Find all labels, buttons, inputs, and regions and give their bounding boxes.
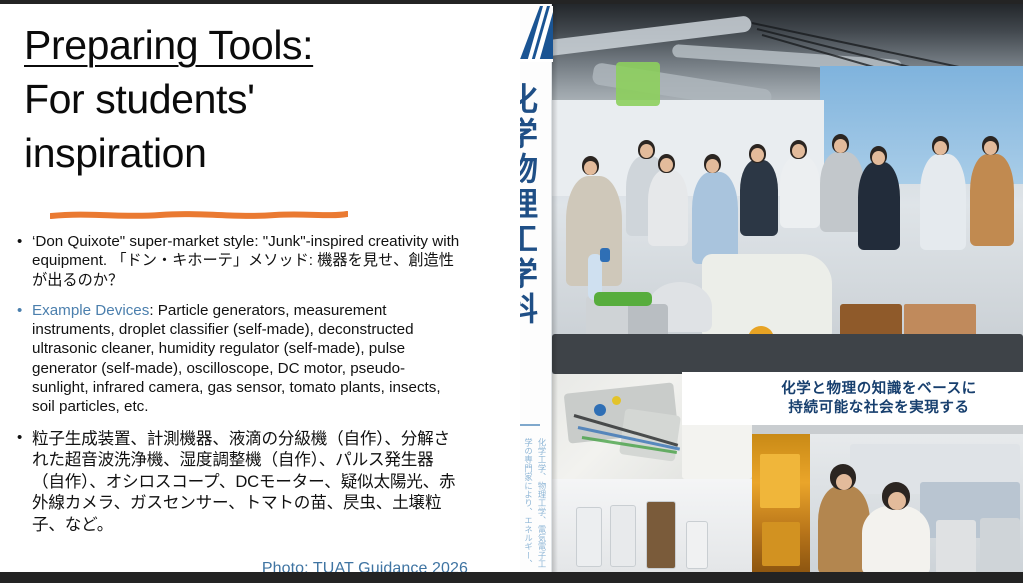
person bbox=[862, 506, 930, 573]
bullet-text: ‘Don Quixote" super-market style: "Junk"… bbox=[32, 233, 459, 289]
person-face bbox=[660, 158, 673, 172]
brochure-image: 化学と物理の知識をベースに 持続可能な社会を実現する 化学物理工学科 APPLI… bbox=[470, 4, 1023, 573]
list-item: • ‘Don Quixote" super-market style: "Jun… bbox=[10, 232, 460, 290]
spine-shadow bbox=[552, 4, 558, 573]
list-item: • 粒子生成装置、計測機器、液滴の分級機（自作）、分解された超音波洗浄機、湿度調… bbox=[10, 428, 460, 536]
furnace-photo bbox=[752, 434, 810, 573]
bullet-text: 粒子生成装置、計測機器、液滴の分級機（自作）、分解された超音波洗浄機、湿度調整機… bbox=[32, 429, 455, 534]
bullet-marker: • bbox=[17, 301, 22, 320]
connector bbox=[594, 404, 606, 416]
page-title-line3: inspiration bbox=[24, 126, 494, 180]
caption-line-1: 化学と物理の知識をベースに bbox=[781, 380, 977, 399]
brochure-caption: 化学と物理の知識をベースに 持続可能な社会を実現する bbox=[735, 372, 1023, 425]
person bbox=[692, 172, 738, 264]
slide-bottom-border bbox=[0, 572, 1023, 583]
connector bbox=[612, 396, 621, 405]
person bbox=[920, 154, 966, 250]
bullet-highlight-label: Example Devices bbox=[32, 302, 149, 319]
person-face bbox=[792, 144, 805, 158]
list-item: • Example Devices: Particle generators, … bbox=[10, 301, 460, 417]
caption-line-2: 持続可能な社会を実現する bbox=[788, 399, 969, 418]
sample-bottle bbox=[646, 501, 676, 569]
person bbox=[970, 154, 1014, 246]
person bbox=[780, 156, 820, 228]
bullet-marker: • bbox=[17, 232, 22, 251]
bullet-marker: • bbox=[17, 428, 22, 447]
caption-band-spacer bbox=[682, 372, 736, 425]
lab-equipment bbox=[702, 254, 832, 338]
page-title-line1: Preparing Tools: bbox=[24, 22, 313, 68]
lab-equipment bbox=[616, 62, 660, 106]
instrument bbox=[936, 520, 976, 573]
sample-bottle bbox=[576, 507, 602, 567]
sample-bottles-photo bbox=[552, 479, 752, 573]
lab-equipment bbox=[622, 304, 668, 338]
lab-equipment bbox=[600, 248, 610, 262]
person-face bbox=[888, 492, 906, 510]
person bbox=[740, 160, 778, 236]
person-face bbox=[640, 144, 653, 158]
person-face bbox=[984, 141, 997, 155]
person-face bbox=[706, 159, 719, 173]
instrument bbox=[980, 518, 1020, 573]
furnace-window bbox=[760, 454, 800, 508]
furnace-window bbox=[762, 522, 800, 566]
page-title-line2: For students' bbox=[24, 72, 494, 126]
person-face bbox=[751, 148, 764, 162]
sample-bottle bbox=[686, 521, 708, 569]
sample-bottle bbox=[610, 505, 636, 567]
person-face bbox=[872, 151, 885, 165]
person-face bbox=[934, 141, 947, 155]
person-face bbox=[836, 474, 852, 490]
person-face bbox=[834, 139, 847, 153]
text-column: Preparing Tools: For students' inspirati… bbox=[0, 4, 520, 573]
slide-canvas: Preparing Tools: For students' inspirati… bbox=[0, 0, 1023, 583]
person bbox=[858, 162, 900, 250]
lab-equipment bbox=[594, 292, 652, 306]
slide-top-border bbox=[0, 0, 1023, 4]
lab-group-photo bbox=[552, 4, 1023, 374]
lab-equipment bbox=[552, 334, 1023, 374]
bullet-list: • ‘Don Quixote" super-market style: "Jun… bbox=[10, 232, 460, 546]
person bbox=[648, 170, 688, 246]
person-face bbox=[584, 161, 597, 175]
researchers-photo bbox=[810, 434, 1023, 573]
page-title: Preparing Tools: For students' inspirati… bbox=[24, 18, 494, 180]
orange-underline-stroke bbox=[50, 209, 348, 221]
